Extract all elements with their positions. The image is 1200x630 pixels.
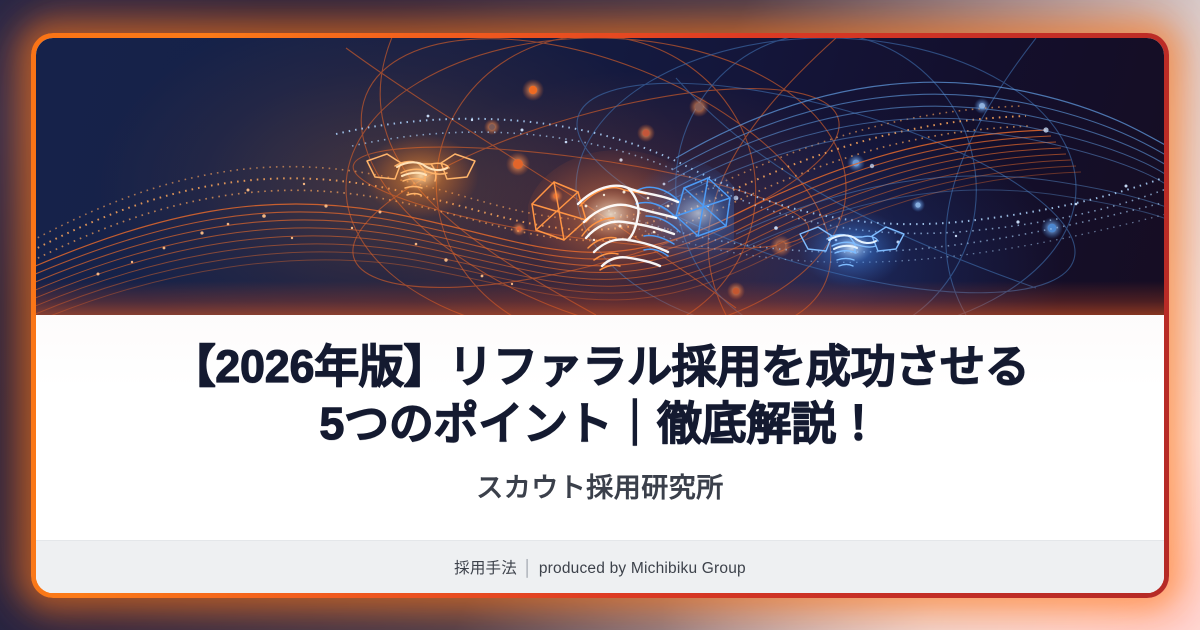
page-title: 【2026年版】リファラル採用を成功させる 5つのポイント｜徹底解説！ [95, 315, 1105, 452]
title-line-1: 【2026年版】リファラル採用を成功させる [171, 341, 1030, 392]
handshake-blue-right-icon [796, 208, 908, 288]
handshake-orange-left-icon [361, 133, 481, 219]
footer-separator: │ [517, 560, 539, 577]
footer-category: 採用手法 [454, 560, 517, 577]
title-line-2-part-a: 5つのポイント [319, 398, 612, 449]
title-line-2-separator: ｜ [612, 398, 657, 449]
footer-text: 採用手法│produced by Michibiku Group [454, 556, 746, 578]
footer-bar: 採用手法│produced by Michibiku Group [36, 540, 1164, 593]
title-line-2-part-b: 徹底解説！ [657, 398, 881, 449]
card-frame: 【2026年版】リファラル採用を成功させる 5つのポイント｜徹底解説！ スカウト… [31, 33, 1169, 598]
hero-bottom-band [36, 281, 1164, 315]
footer-credit: produced by Michibiku Group [539, 560, 746, 577]
handshake-center-duotone-icon [528, 148, 734, 296]
hero-image [36, 38, 1164, 315]
card-content: 【2026年版】リファラル採用を成功させる 5つのポイント｜徹底解説！ スカウト… [36, 315, 1164, 593]
card-inner: 【2026年版】リファラル採用を成功させる 5つのポイント｜徹底解説！ スカウト… [36, 38, 1164, 593]
ogp-canvas: 【2026年版】リファラル採用を成功させる 5つのポイント｜徹底解説！ スカウト… [0, 0, 1200, 630]
site-name: スカウト採用研究所 [476, 452, 724, 505]
